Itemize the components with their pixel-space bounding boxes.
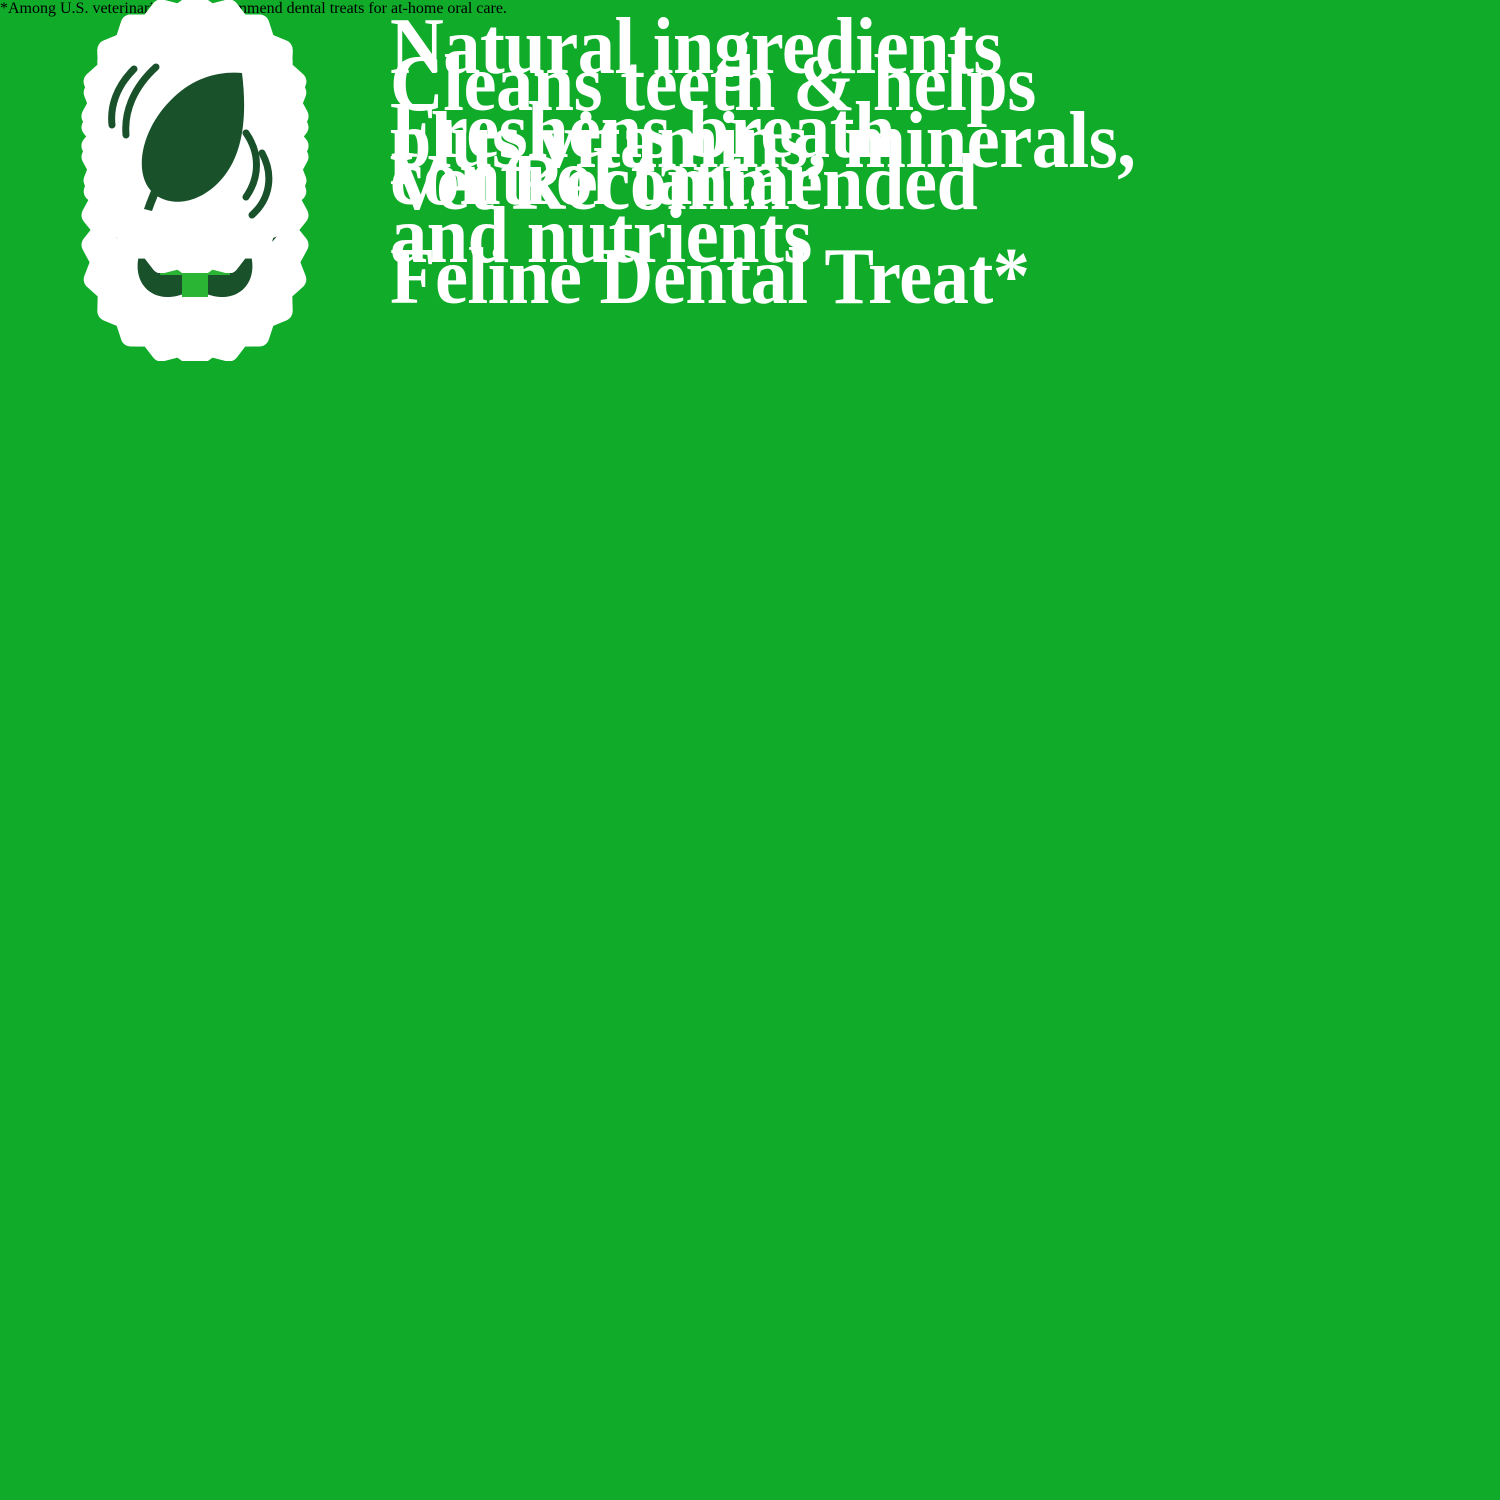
feature-label: Natural ingredients plus vitamins, miner… [390,0,1385,283]
feature-text-container: Natural ingredients plus vitamins, miner… [390,0,1500,283]
feature-benefits-panel: Vet Recommended Feline Dental Treat* Cle… [0,0,1500,1500]
natural-leaf-icon [64,11,326,273]
feature-icon-container [0,11,390,273]
feature-row: Natural ingredients plus vitamins, miner… [0,0,1500,283]
